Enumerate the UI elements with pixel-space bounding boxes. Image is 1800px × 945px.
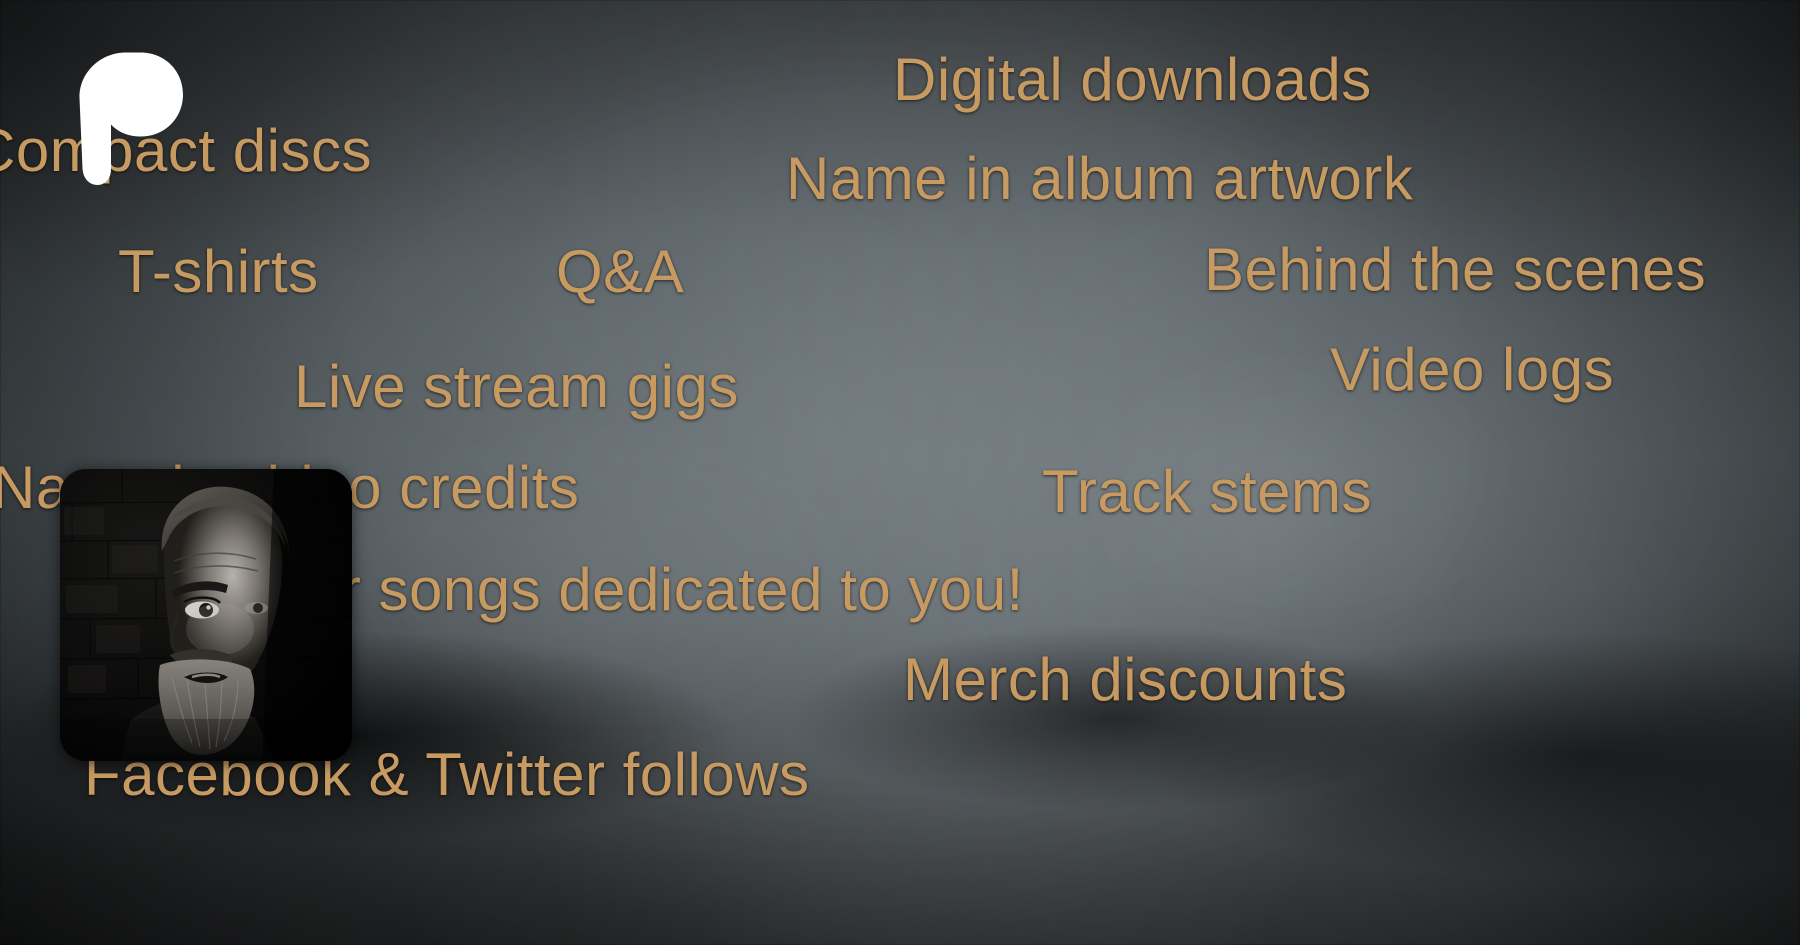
perk-label: Four songs dedicated to you! [236, 560, 1024, 620]
perk-label: T-shirts [118, 242, 319, 302]
perk-label: Live stream gigs [294, 357, 739, 417]
perk-label: Digital downloads [893, 50, 1372, 110]
perk-label: Name in album artwork [786, 149, 1413, 209]
perk-label: Behind the scenes [1204, 240, 1706, 300]
perk-label: Track stems [1042, 462, 1372, 522]
perk-label: Video logs [1330, 340, 1614, 400]
patreon-logo-icon[interactable] [66, 48, 186, 188]
perk-label: Q&A [556, 242, 684, 302]
creator-avatar[interactable] [60, 469, 352, 761]
perk-label: Merch discounts [903, 650, 1347, 710]
cover-stage: Compact discsDigital downloadsName in al… [0, 0, 1800, 945]
